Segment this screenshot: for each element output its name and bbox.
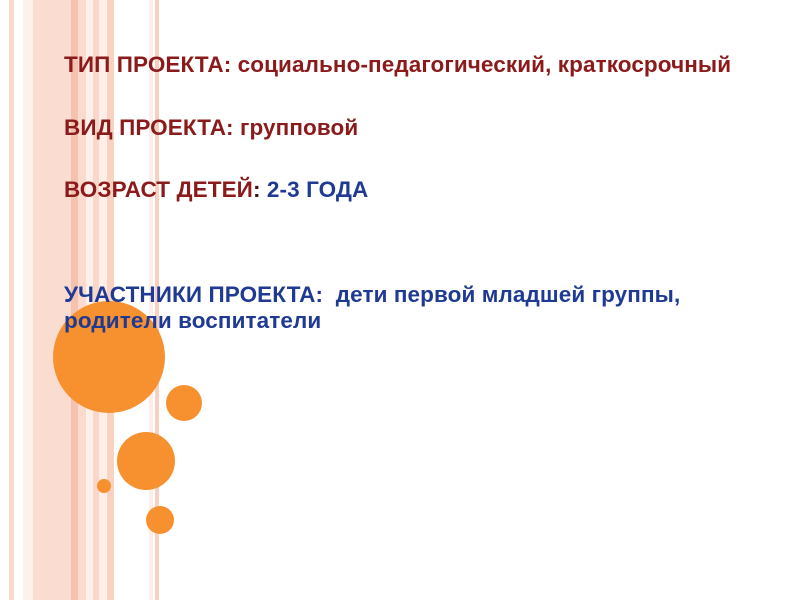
children-age-label: ВОЗРАСТ ДЕТЕЙ: [64, 177, 253, 202]
slide-text-block: ТИП ПРОЕКТА: социально-педагогический, к…: [64, 52, 764, 335]
project-type-paragraph: ТИП ПРОЕКТА: социально-педагогический, к…: [64, 52, 764, 79]
decorative-stripe: [9, 0, 14, 600]
children-age-value: 2-3 ГОДА: [261, 177, 369, 202]
project-members-paragraph: УЧАСТНИКИ ПРОЕКТА: дети первой младшей г…: [64, 282, 764, 335]
circle-dot: [97, 479, 111, 493]
decorative-stripe: [23, 0, 33, 600]
circle-medium: [117, 432, 175, 490]
project-type-label: ТИП ПРОЕКТА:: [64, 52, 231, 77]
circle-small-b: [146, 506, 174, 534]
slide-canvas: ТИП ПРОЕКТА: социально-педагогический, к…: [0, 0, 800, 600]
spacer-2: [64, 141, 764, 177]
project-type-value: социально-педагогический, краткосрочный: [231, 52, 731, 77]
spacer-3: [64, 204, 764, 282]
project-members-label: УЧАСТНИКИ ПРОЕКТА:: [64, 282, 323, 307]
project-kind-paragraph: ВИД ПРОЕКТА: групповой: [64, 115, 764, 142]
project-kind-value: групповой: [234, 115, 359, 140]
circle-small-a: [166, 385, 202, 421]
project-kind-label: ВИД ПРОЕКТА:: [64, 115, 234, 140]
children-age-paragraph: ВОЗРАСТ ДЕТЕЙ: 2-3 ГОДА: [64, 177, 764, 204]
children-age-colon: :: [253, 177, 261, 202]
spacer-1: [64, 79, 764, 115]
